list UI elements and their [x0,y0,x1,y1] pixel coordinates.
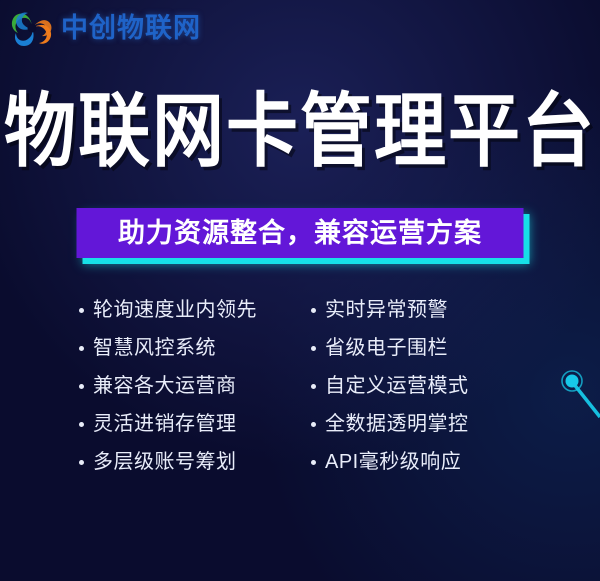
bullet-icon [79,460,84,465]
bullet-icon [79,346,84,351]
subtitle-text: 助力资源整合，兼容运营方案 [118,220,482,247]
feature-label: 灵活进销存管理 [93,414,237,434]
bullet-icon [311,384,316,389]
feature-column-left: 轮询速度业内领先 智慧风控系统 兼容各大运营商 灵活进销存管理 多层级账号筹划 [79,296,289,476]
list-item: 省级电子围栏 [311,334,521,362]
brand-logo: 中创物联网 [10,6,201,50]
subtitle-band: 助力资源整合，兼容运营方案 [77,208,524,258]
list-item: API毫秒级响应 [311,448,521,476]
feature-label: API毫秒级响应 [325,452,461,472]
feature-column-right: 实时异常预警 省级电子围栏 自定义运营模式 全数据透明掌控 API毫秒级响应 [311,296,521,476]
feature-label: 自定义运营模式 [325,376,469,396]
bullet-icon [79,422,84,427]
list-item: 实时异常预警 [311,296,521,324]
bullet-icon [311,308,316,313]
list-item: 轮询速度业内领先 [79,296,289,324]
swirl-pinwheel-logo-icon [10,6,54,50]
bullet-icon [311,346,316,351]
bullet-icon [311,460,316,465]
feature-label: 兼容各大运营商 [93,376,237,396]
feature-label: 轮询速度业内领先 [93,300,257,320]
feature-label: 多层级账号筹划 [93,452,237,472]
bullet-icon [79,308,84,313]
list-item: 自定义运营模式 [311,372,521,400]
page-title: 物联网卡管理平台 [0,92,600,173]
list-item: 兼容各大运营商 [79,372,289,400]
bullet-icon [79,384,84,389]
bullet-icon [311,422,316,427]
list-item: 灵活进销存管理 [79,410,289,438]
feature-label: 全数据透明掌控 [325,414,469,434]
feature-label: 智慧风控系统 [93,338,216,358]
list-item: 智慧风控系统 [79,334,289,362]
feature-label: 实时异常预警 [325,300,448,320]
feature-list: 轮询速度业内领先 智慧风控系统 兼容各大运营商 灵活进销存管理 多层级账号筹划 … [0,296,600,476]
list-item: 多层级账号筹划 [79,448,289,476]
brand-name: 中创物联网 [61,15,201,42]
list-item: 全数据透明掌控 [311,410,521,438]
feature-label: 省级电子围栏 [325,338,448,358]
subtitle-banner: 助力资源整合，兼容运营方案 [77,208,524,258]
